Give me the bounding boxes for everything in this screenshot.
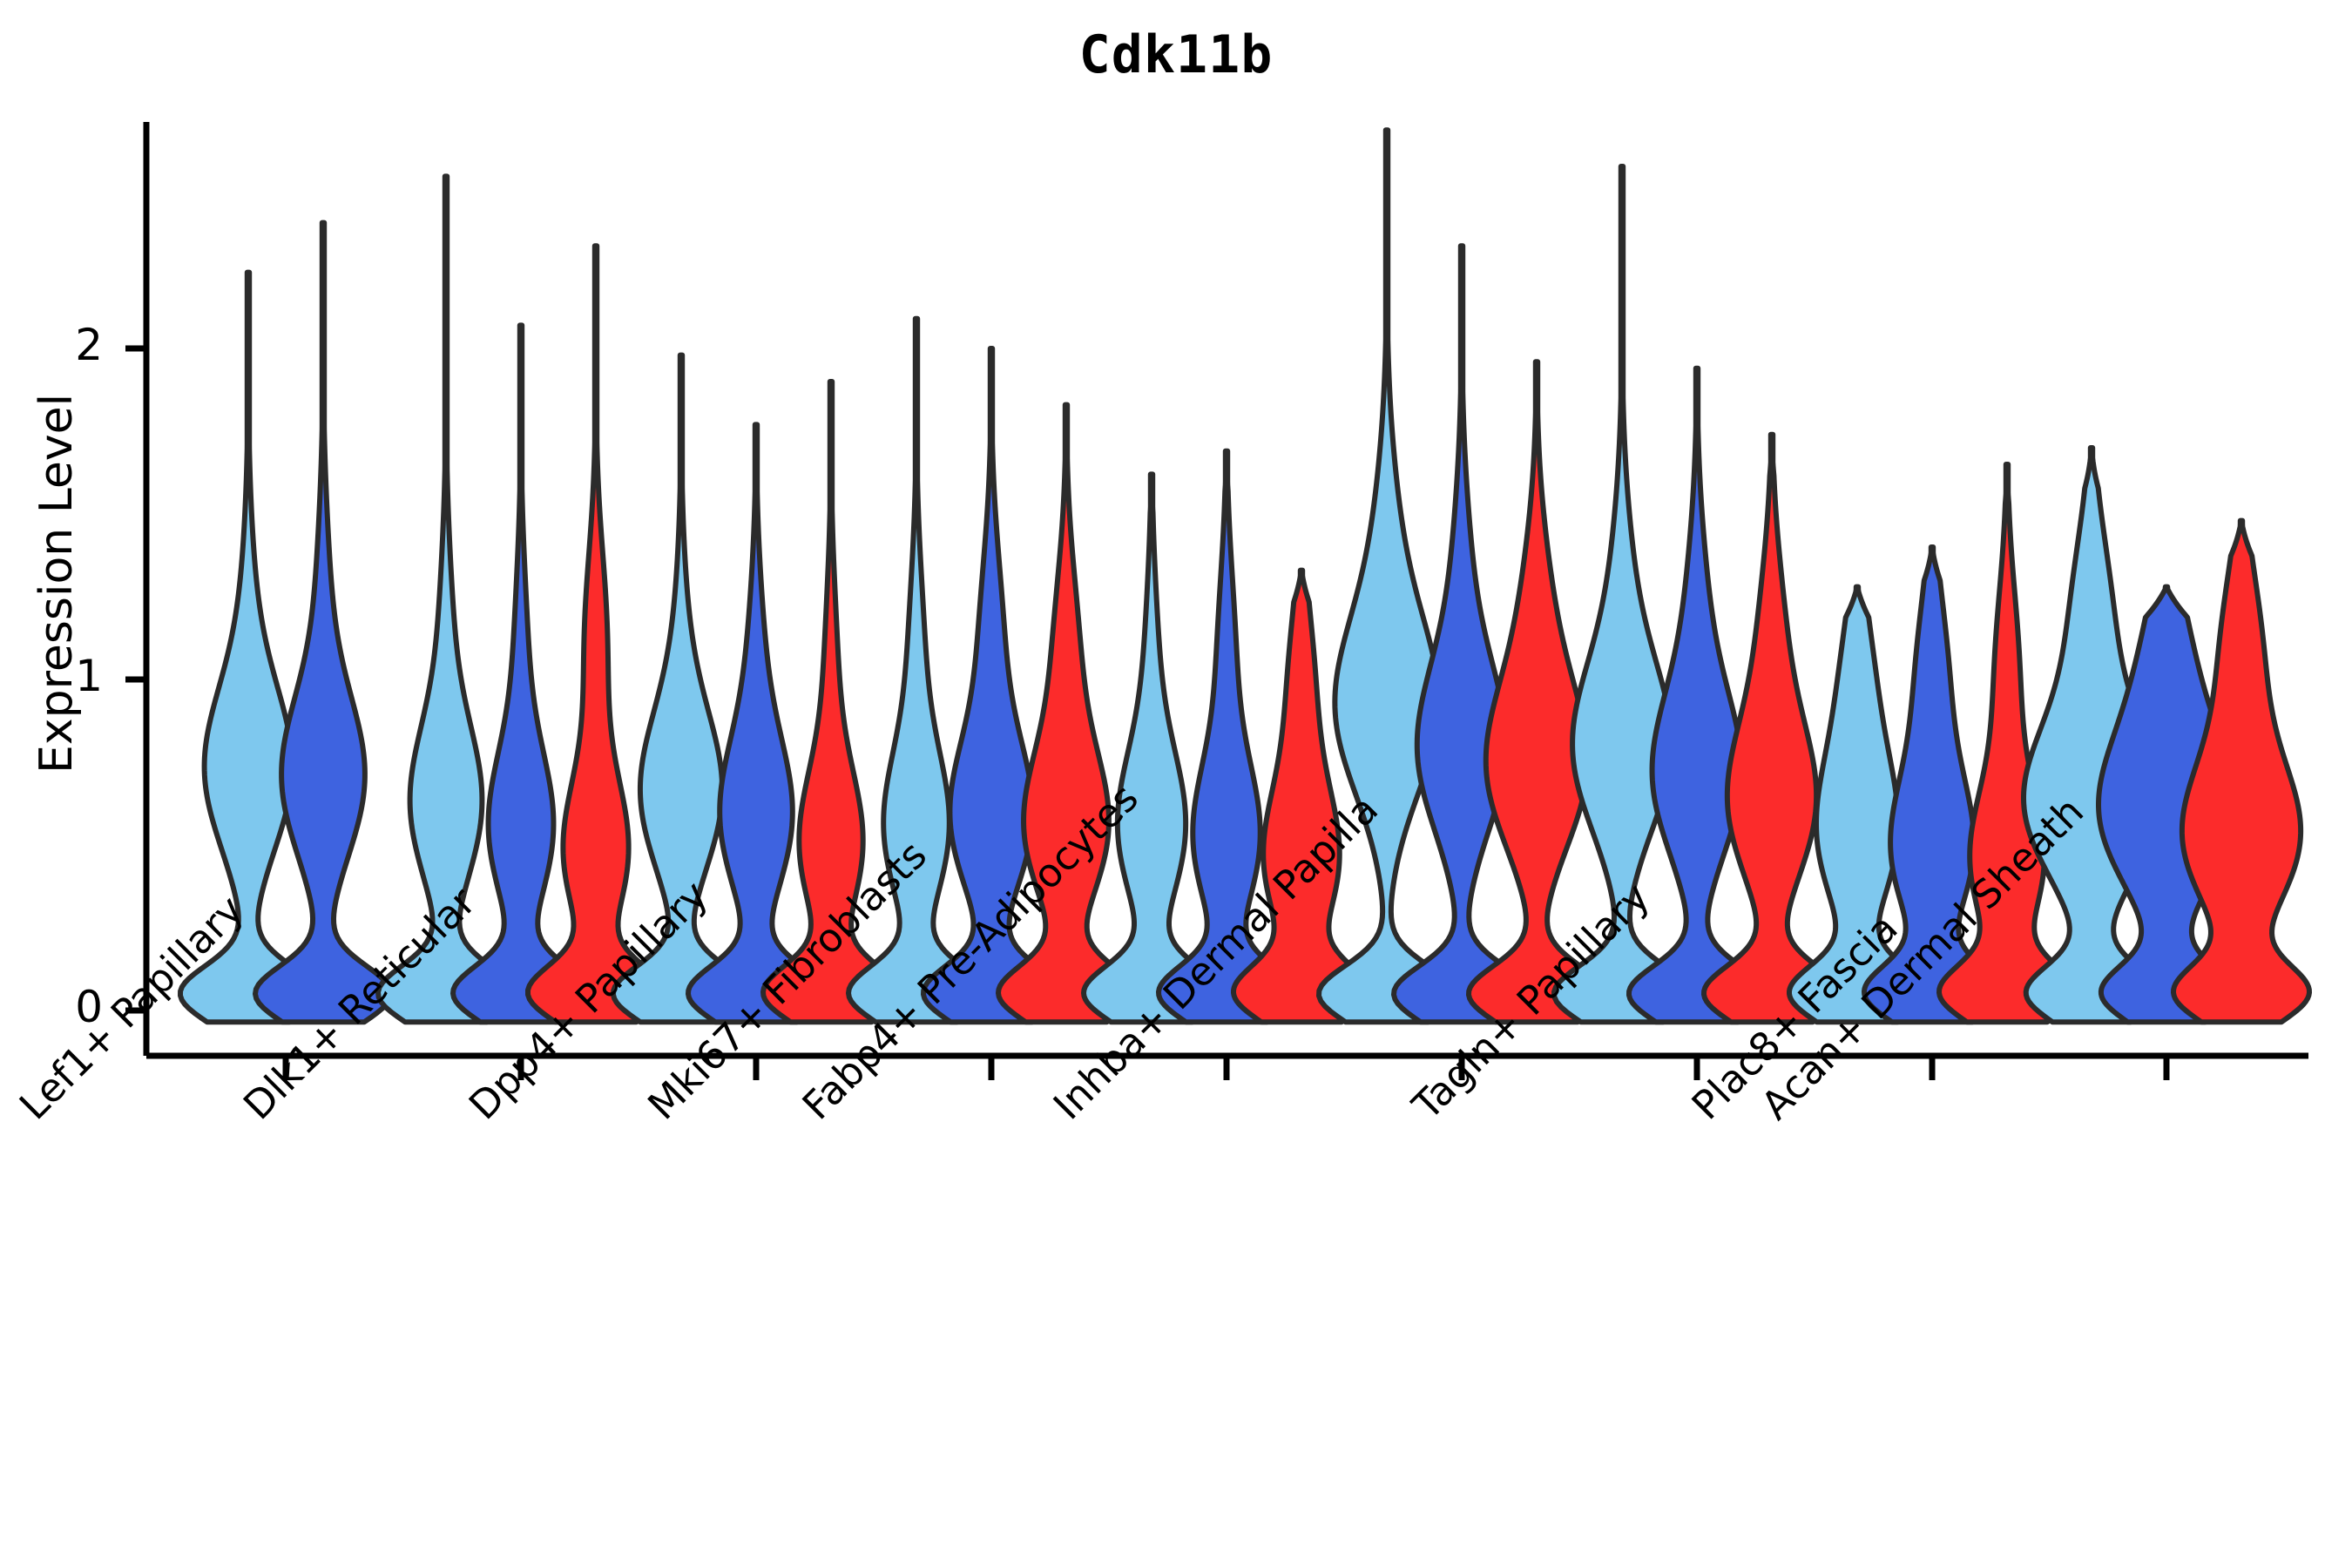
- violin-plot-figure: Cdk11b Expression Level 012 Lef1+ Papill…: [0, 0, 2352, 1568]
- y-tick-label-2: 2: [0, 320, 103, 370]
- violin-lef1-papillary-blue: [255, 223, 391, 1023]
- violin-inhba-dermal-papilla-light-blue: [1319, 130, 1455, 1022]
- violin-dlk1-reticular-red: [528, 246, 664, 1022]
- chart-canvas: [0, 0, 2352, 1568]
- y-tick-label-1: 1: [0, 651, 103, 701]
